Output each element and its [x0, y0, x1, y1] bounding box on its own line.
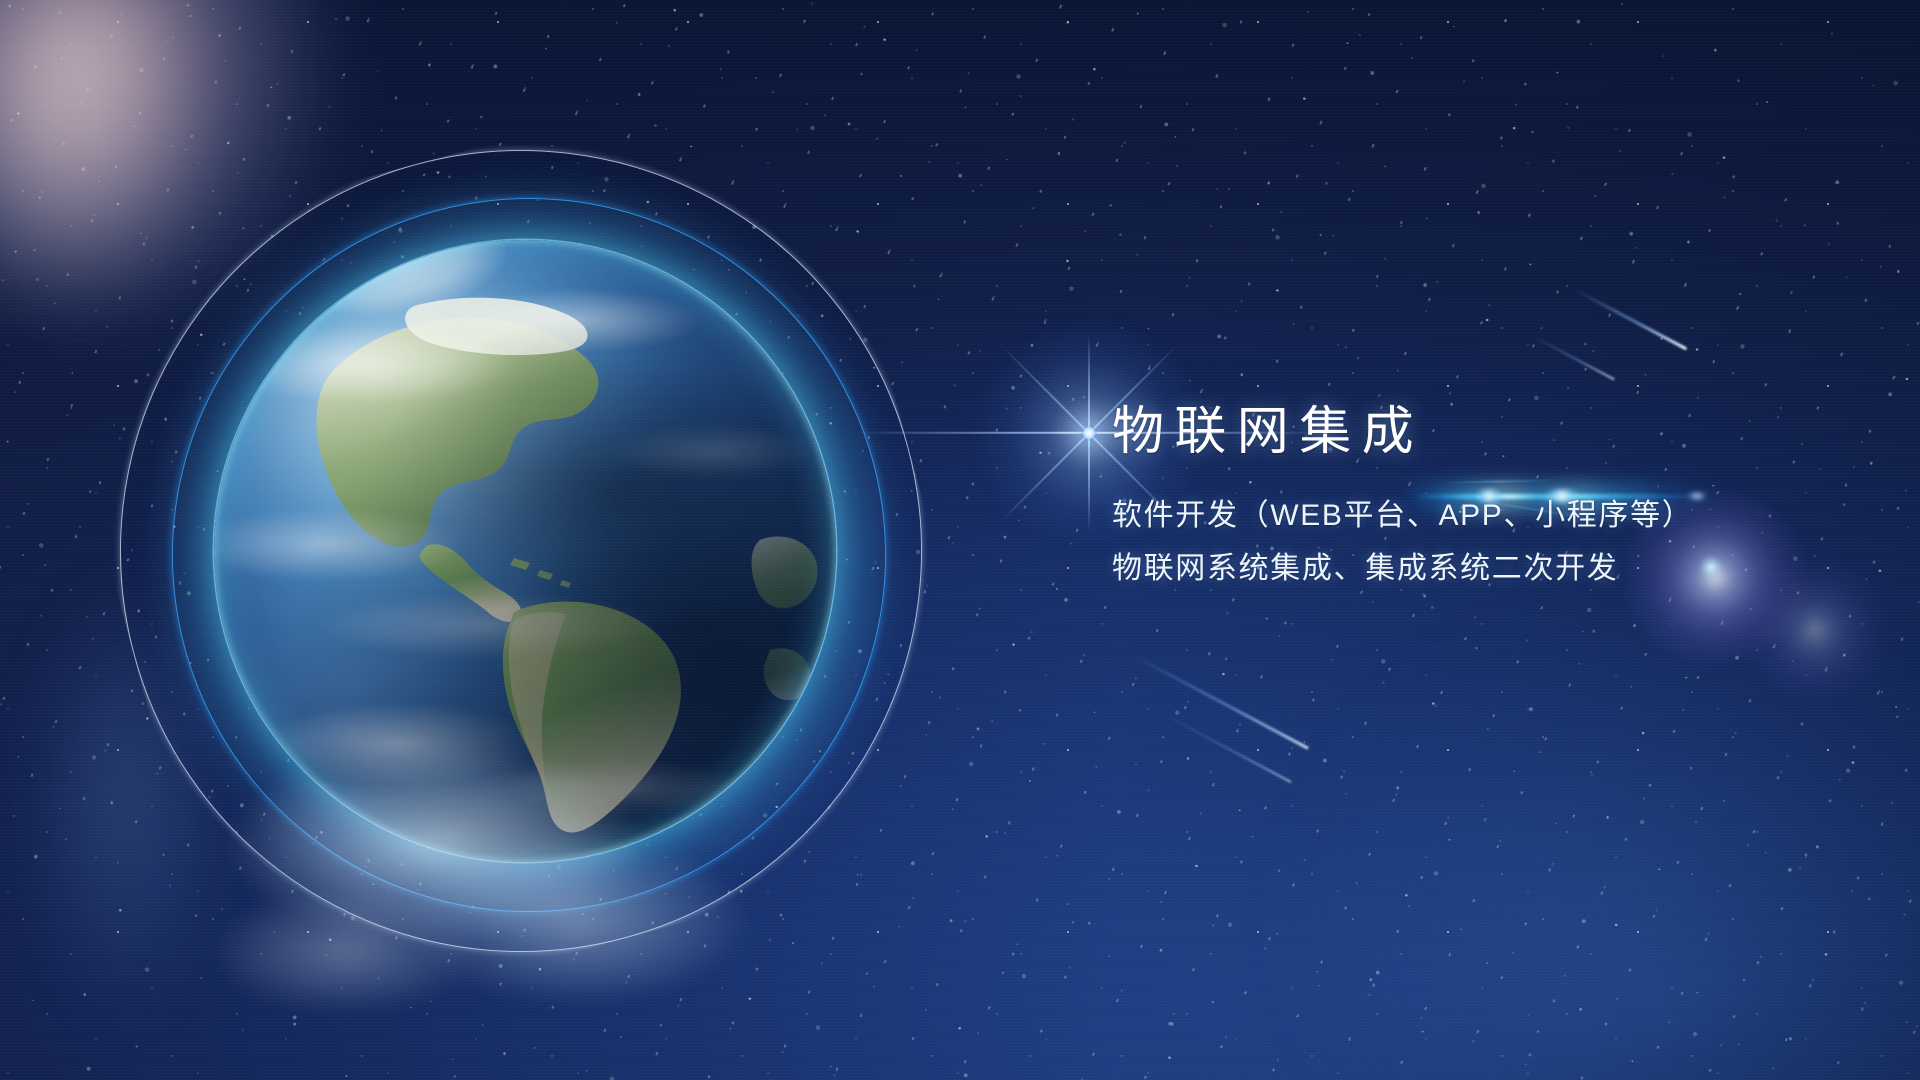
banner-copy: 物联网集成 软件开发（WEB平台、APP、小程序等） 物联网系统集成、集成系统二… — [1112, 404, 1872, 588]
subtitle-line-1: 软件开发（WEB平台、APP、小程序等） — [1112, 496, 1872, 535]
cloud-mist — [180, 700, 820, 1080]
page-title: 物联网集成 — [1112, 404, 1872, 460]
globe-group — [0, 0, 1100, 1080]
subtitle-line-2: 物联网系统集成、集成系统二次开发 — [1112, 549, 1872, 588]
subtitle-group: 软件开发（WEB平台、APP、小程序等） 物联网系统集成、集成系统二次开发 — [1112, 496, 1872, 588]
hero-banner: 物联网集成 软件开发（WEB平台、APP、小程序等） 物联网系统集成、集成系统二… — [0, 0, 1920, 1080]
